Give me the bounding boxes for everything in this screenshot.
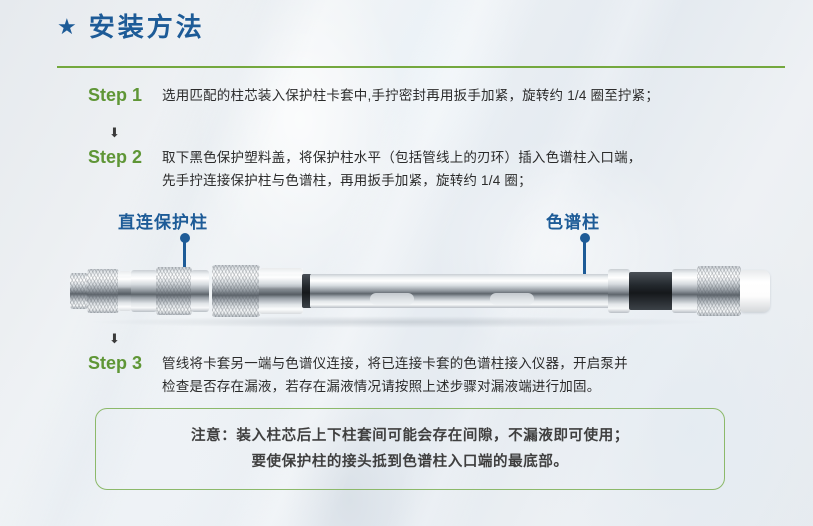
page-header: ★ 安装方法 — [57, 14, 205, 40]
page-title: 安装方法 — [89, 14, 205, 40]
star-icon: ★ — [57, 16, 77, 38]
photo-part-outlet-collar — [608, 269, 630, 313]
step-arrow-down-icon-1: ⬇ — [109, 126, 120, 139]
photo-part-white-plastic-end-cap — [740, 270, 770, 312]
step-2-line-1: 取下黑色保护塑料盖，将保护柱水平（包括管线上的刃环）插入色谱柱入口端， — [162, 146, 642, 169]
photo-part-column-barrel — [310, 274, 610, 308]
photo-part-guard-taper — [191, 270, 209, 312]
product-photo-column-assembly — [70, 258, 750, 324]
photo-part-inlet-ferrule-nut — [70, 273, 88, 309]
step-row-1: Step 1 选用匹配的柱芯装入保护柱卡套中,手拧密封再用扳手加紧，旋转约 1/… — [88, 84, 659, 107]
step-2-line-2: 先手拧连接保护柱与色谱柱，再用扳手加紧，旋转约 1/4 圈； — [162, 169, 642, 192]
photo-part-barrel-engraving-2 — [490, 293, 534, 305]
note-callout-box: 注意：装入柱芯后上下柱套间可能会存在间隙，不漏液即可使用； 要使保护柱的接头抵到… — [95, 408, 725, 490]
step-label-3: Step 3 — [88, 352, 162, 374]
step-label-1: Step 1 — [88, 84, 162, 106]
note-line-2: 要使保护柱的接头抵到色谱柱入口端的最底部。 — [251, 455, 568, 470]
title-divider — [57, 66, 785, 68]
step-body-3: 管线将卡套另一端与色谱仪连接，将已连接卡套的色谱柱接入仪器，开启泵并 检查是否存… — [162, 352, 628, 398]
note-line-1: 注意：装入柱芯后上下柱套间可能会存在间隙，不漏液即可使用； — [191, 429, 629, 444]
photo-part-union-knurled-nut — [212, 265, 260, 317]
photo-part-outlet-knurled-nut — [697, 266, 741, 316]
photo-part-guard-cartridge-nut — [156, 267, 192, 315]
step-label-2: Step 2 — [88, 146, 162, 168]
photo-part-union-hex-nut — [259, 268, 303, 314]
step-3-line-1: 管线将卡套另一端与色谱仪连接，将已连接卡套的色谱柱接入仪器，开启泵并 — [162, 352, 628, 375]
step-arrow-down-icon-2: ⬇ — [109, 332, 120, 345]
step-3-line-2: 检查是否存在漏液，若存在漏液情况请按照上述步骤对漏液端进行加固。 — [162, 375, 628, 398]
step-row-2: Step 2 取下黑色保护塑料盖，将保护柱水平（包括管线上的刃环）插入色谱柱入口… — [88, 146, 642, 192]
step-body-1: 选用匹配的柱芯装入保护柱卡套中,手拧密封再用扳手加紧，旋转约 1/4 圈至拧紧； — [162, 84, 659, 107]
photo-part-left-hex-body — [118, 271, 132, 311]
photo-part-left-grip-nut — [87, 269, 119, 313]
step-1-line-1: 选用匹配的柱芯装入保护柱卡套中,手拧密封再用扳手加紧，旋转约 1/4 圈至拧紧； — [162, 84, 659, 107]
callout-label-analytical-column: 色谱柱 — [546, 208, 600, 233]
photo-part-outlet-black-nut — [629, 272, 673, 310]
photo-part-barrel-engraving-1 — [370, 293, 414, 305]
step-body-2: 取下黑色保护塑料盖，将保护柱水平（包括管线上的刃环）插入色谱柱入口端， 先手拧连… — [162, 146, 642, 192]
photo-part-left-collar — [131, 270, 157, 312]
step-row-3: Step 3 管线将卡套另一端与色谱仪连接，将已连接卡套的色谱柱接入仪器，开启泵… — [88, 352, 628, 398]
callout-label-guard-column: 直连保护柱 — [118, 208, 208, 233]
install-instructions-page: ★ 安装方法 Step 1 选用匹配的柱芯装入保护柱卡套中,手拧密封再用扳手加紧… — [0, 0, 813, 526]
photo-part-outlet-shoulder — [672, 269, 698, 313]
